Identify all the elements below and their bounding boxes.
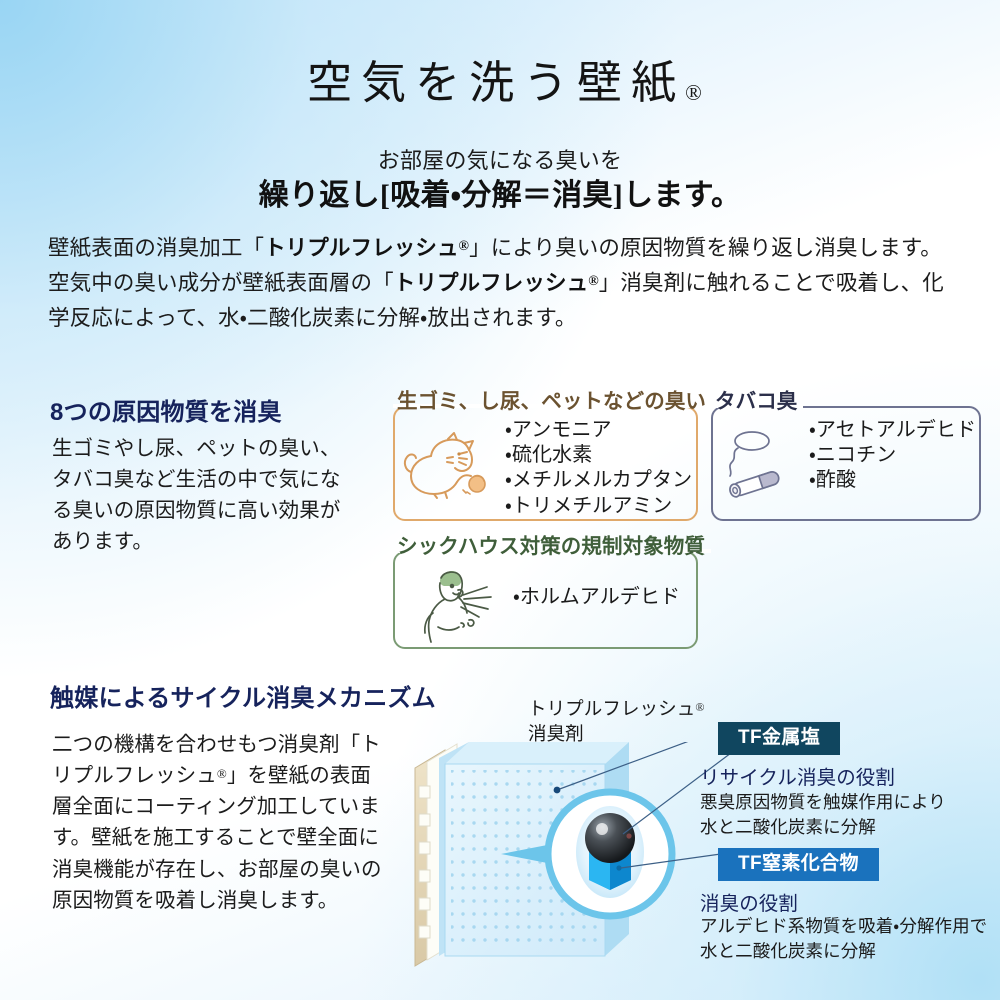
badge-tf-nitrogen-compound: TF窒素化合物 bbox=[718, 848, 879, 881]
registered-mark-icon: ® bbox=[217, 766, 227, 781]
list-item: ・硫化水素 bbox=[505, 443, 692, 468]
page-title: 空気を洗う壁紙® bbox=[0, 46, 1000, 111]
cat-icon bbox=[401, 432, 501, 504]
odor-box-list: ・ホルムアルデヒド bbox=[513, 585, 680, 610]
odor-box-sick-house: シックハウス対策の規制対象物質 ・ bbox=[393, 551, 698, 649]
page-title-text: 空気を洗う壁紙 bbox=[307, 58, 685, 108]
lead-text-1: 壁紙表面の消臭加工「 bbox=[48, 236, 264, 260]
registered-mark-icon: ® bbox=[588, 274, 599, 289]
odor-box-title: 生ゴミ、し尿、ペットなどの臭い bbox=[397, 392, 706, 413]
cigarette-icon bbox=[721, 424, 811, 502]
odor-box-kitchen: 生ゴミ、し尿、ペットなどの臭い bbox=[393, 406, 698, 521]
section-2-body: 二つの機構を合わせもつ消臭剤「トリプルフレッシュ®」を壁紙の表面層全面にコーティ… bbox=[52, 730, 382, 917]
diagram-caption-line-1: トリプルフレッシュ bbox=[528, 700, 695, 720]
odor-box-title: シックハウス対策の規制対象物質 bbox=[397, 537, 705, 558]
list-item: ・メチルメルカプタン bbox=[505, 468, 692, 493]
section-1-body: 生ゴミやし尿、ペットの臭い、タバコ臭など生活の中で気になる臭いの原因物質に高い効… bbox=[52, 434, 352, 559]
tf-metal-salt-sphere-icon bbox=[585, 813, 635, 863]
odor-box-tobacco: タバコ臭 ・アセトアルデヒド ・ニコチン ・酢酸 bbox=[711, 406, 981, 521]
tf-metal-salt-desc-line-1: 悪臭原因物質を触媒作用により bbox=[700, 790, 946, 815]
odor-box-list: ・アンモニア ・硫化水素 ・メチルメルカプタン ・トリメチルアミン bbox=[505, 418, 692, 519]
tf-nitrogen-desc-line-1: アルデヒド系物質を吸着・分解作用で bbox=[700, 914, 987, 939]
registered-mark-icon: ® bbox=[685, 80, 702, 105]
badge-tf-metal-salt: TF金属塩 bbox=[718, 722, 840, 755]
list-item: ・アンモニア bbox=[505, 418, 692, 443]
brand-name-2: トリプルフレッシュ bbox=[394, 271, 588, 295]
list-item: ・ホルムアルデヒド bbox=[513, 585, 680, 610]
section-2-heading: 触媒によるサイクル消臭メカニズム bbox=[50, 678, 436, 713]
tf-metal-salt-description: 悪臭原因物質を触媒作用により 水と二酸化炭素に分解 bbox=[700, 790, 946, 840]
list-item: ・トリメチルアミン bbox=[505, 494, 692, 519]
tf-nitrogen-description: アルデヒド系物質を吸着・分解作用で 水と二酸化炭素に分解 bbox=[700, 914, 987, 964]
tf-metal-salt-role: リサイクル消臭の役割 bbox=[700, 761, 895, 790]
registered-mark-icon: ® bbox=[459, 239, 470, 254]
wallpaper-cross-section-diagram bbox=[405, 742, 735, 977]
diagram-caption: トリプルフレッシュ®消臭剤 bbox=[528, 698, 705, 748]
tf-nitrogen-desc-line-2: 水と二酸化炭素に分解 bbox=[700, 939, 987, 964]
registered-mark-icon: ® bbox=[695, 700, 704, 714]
odor-box-list: ・アセトアルデヒド ・ニコチン ・酢酸 bbox=[809, 418, 976, 494]
tf-nitrogen-role: 消臭の役割 bbox=[700, 887, 798, 916]
infographic-page: 空気を洗う壁紙® お部屋の気になる臭いを 繰り返し[吸着・分解＝消臭]します。 … bbox=[0, 0, 1000, 1000]
section-1-heading: 8つの原因物質を消臭 bbox=[50, 392, 282, 427]
odor-box-title: タバコ臭 bbox=[715, 392, 797, 413]
brand-name-1: トリプルフレッシュ bbox=[264, 236, 458, 260]
tf-metal-salt-desc-line-2: 水と二酸化炭素に分解 bbox=[700, 815, 946, 840]
list-item: ・アセトアルデヒド bbox=[809, 418, 976, 443]
coughing-person-icon bbox=[411, 565, 507, 645]
subtitle-line-2: 繰り返し[吸着・分解＝消臭]します。 bbox=[0, 170, 1000, 214]
lead-paragraph: 壁紙表面の消臭加工「トリプルフレッシュ®」により臭いの原因物質を繰り返し消臭しま… bbox=[48, 231, 954, 335]
list-item: ・酢酸 bbox=[809, 468, 976, 493]
list-item: ・ニコチン bbox=[809, 443, 976, 468]
